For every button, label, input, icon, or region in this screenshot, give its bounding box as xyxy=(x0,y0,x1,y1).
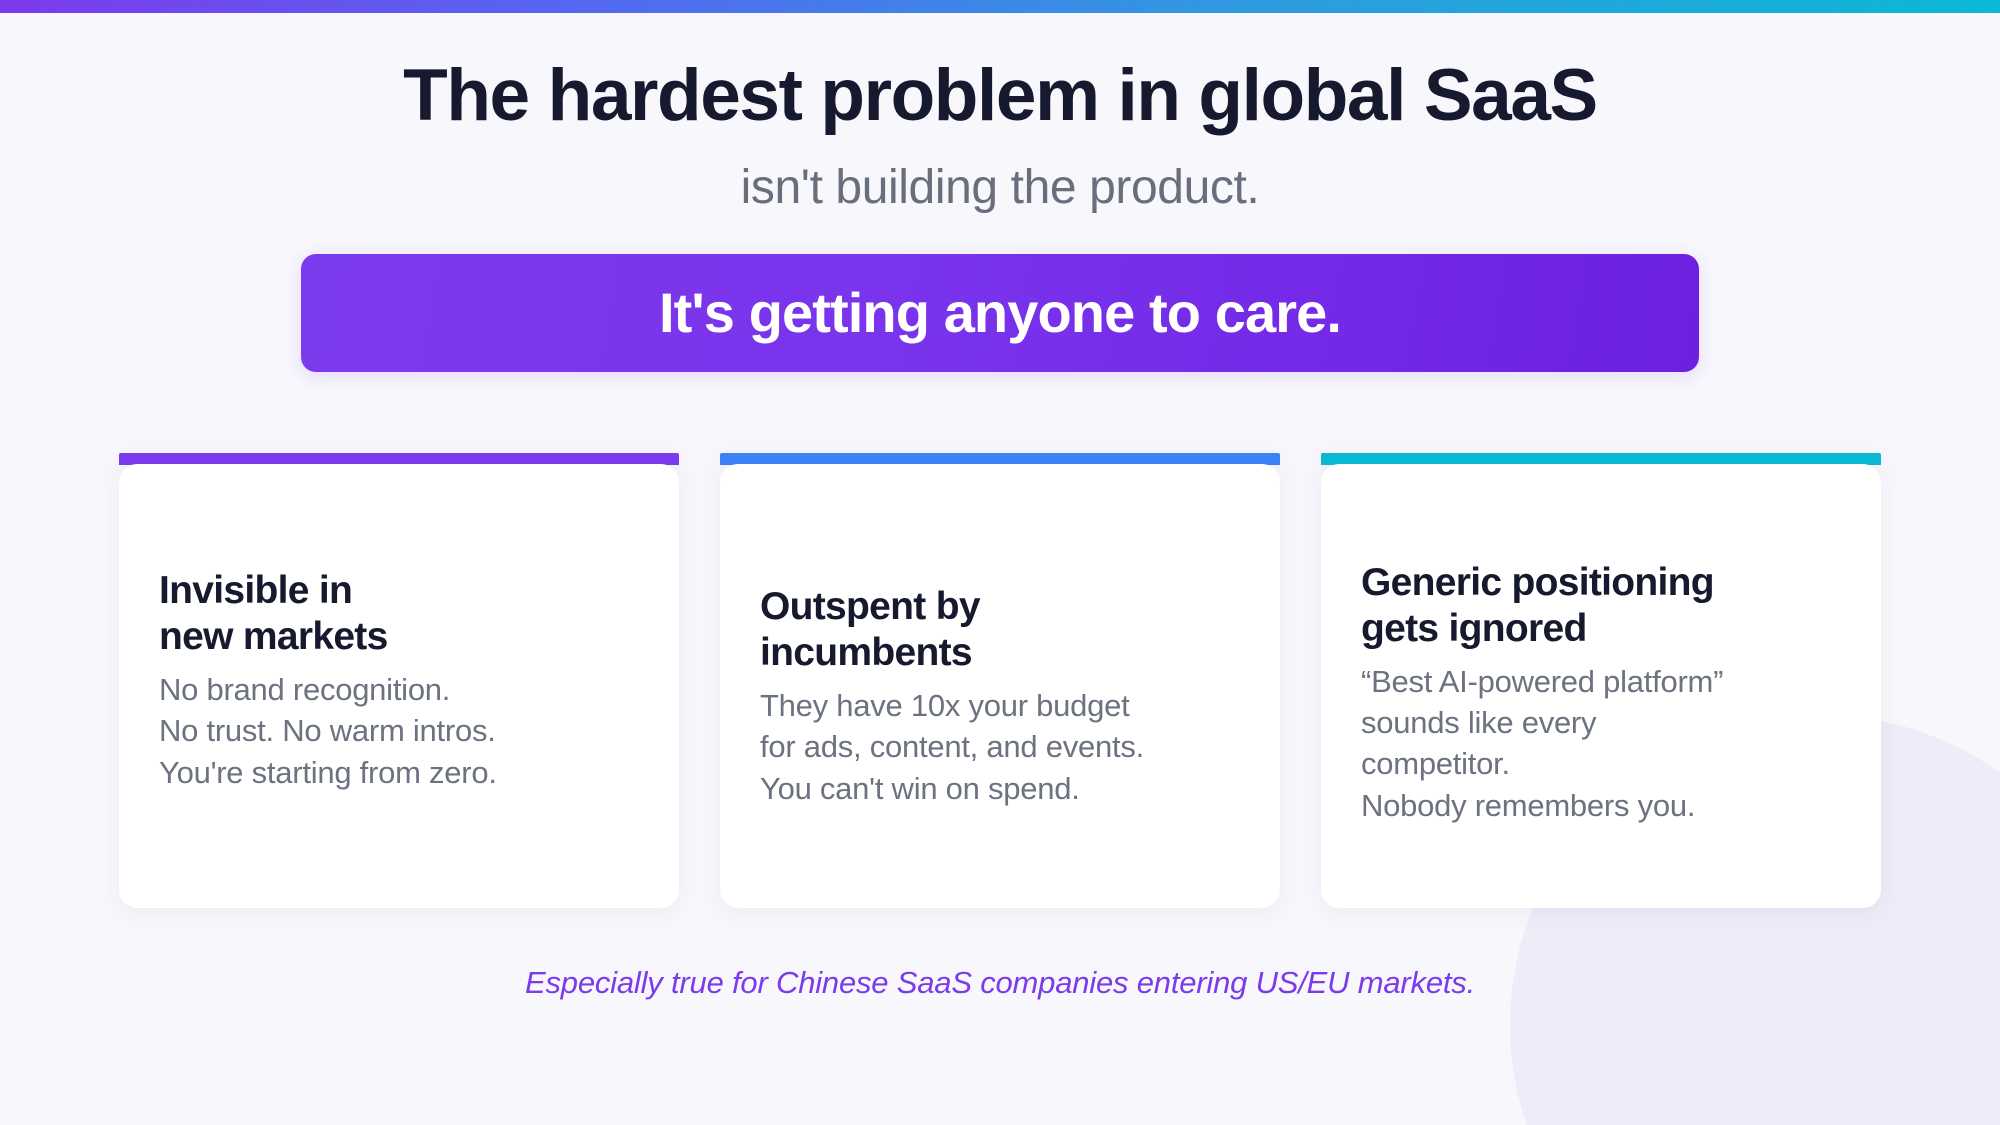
card-text-2: They have 10x your budget for ads, conte… xyxy=(760,685,1240,809)
card-title-1: Invisible in new markets xyxy=(159,568,639,660)
highlight-banner-wrap: It's getting anyone to care. xyxy=(0,254,2000,372)
card-title-3: Generic positioning gets ignored xyxy=(1361,560,1841,652)
card-text-3: “Best AI-powered platform” sounds like e… xyxy=(1361,661,1841,826)
card-text-1: No brand recognition. No trust. No warm … xyxy=(159,669,639,793)
problem-card-outspent: Outspent by incumbents They have 10x you… xyxy=(720,453,1280,908)
card-title-2: Outspent by incumbents xyxy=(760,584,1240,676)
footnote: Especially true for Chinese SaaS compani… xyxy=(0,965,2000,1001)
card-body-2: Outspent by incumbents They have 10x you… xyxy=(720,464,1280,908)
highlight-banner-label: It's getting anyone to care. xyxy=(659,280,1341,345)
problem-card-generic-positioning: Generic positioning gets ignored “Best A… xyxy=(1321,453,1881,908)
card-body-1: Invisible in new markets No brand recogn… xyxy=(119,464,679,908)
page-subtitle: isn't building the product. xyxy=(0,160,2000,215)
page-title: The hardest problem in global SaaS xyxy=(0,57,2000,136)
problem-card-invisible: Invisible in new markets No brand recogn… xyxy=(119,453,679,908)
slide-stage: The hardest problem in global SaaS isn't… xyxy=(0,0,2000,1125)
card-body-3: Generic positioning gets ignored “Best A… xyxy=(1321,464,1881,908)
top-accent-bar xyxy=(0,0,2000,13)
highlight-banner: It's getting anyone to care. xyxy=(301,254,1699,372)
problem-card-grid: Invisible in new markets No brand recogn… xyxy=(0,453,2000,908)
